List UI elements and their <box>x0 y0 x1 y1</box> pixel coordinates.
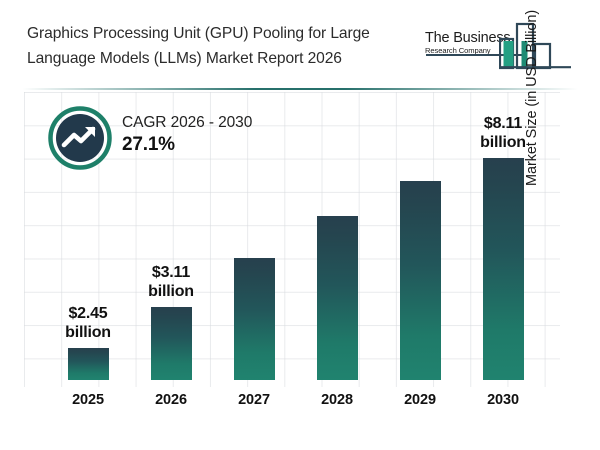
bar-label-amount: $2.45 <box>68 305 107 322</box>
bar-2026[interactable] <box>151 307 192 380</box>
bar-label-2026: $3.11 billion <box>132 263 210 301</box>
cagr-badge: CAGR 2026 - 2030 27.1% <box>48 106 278 174</box>
header-divider <box>22 88 578 90</box>
x-tick-2029: 2029 <box>381 392 459 408</box>
x-tick-2025: 2025 <box>49 392 127 408</box>
report-infographic: Graphics Processing Unit (GPU) Pooling f… <box>0 0 600 450</box>
cagr-period-label: CAGR 2026 - 2030 <box>122 112 252 133</box>
bar-2028[interactable] <box>317 216 358 380</box>
header: Graphics Processing Unit (GPU) Pooling f… <box>0 0 600 86</box>
page-title: Graphics Processing Unit (GPU) Pooling f… <box>27 21 417 71</box>
bar-label-2025: $2.45 billion <box>49 304 127 342</box>
bar-2027[interactable] <box>234 258 275 380</box>
cagr-text-group: CAGR 2026 - 2030 27.1% <box>122 112 252 157</box>
bar-label-unit: billion <box>49 323 127 342</box>
bar-2030[interactable] <box>483 158 524 380</box>
x-axis: 2025 2026 2027 2028 2029 2030 <box>24 392 560 416</box>
x-tick-2027: 2027 <box>215 392 293 408</box>
x-tick-2030: 2030 <box>464 392 542 408</box>
x-tick-2028: 2028 <box>298 392 376 408</box>
bar-label-amount: $3.11 <box>152 264 190 281</box>
trending-up-icon <box>48 106 112 170</box>
y-axis-label: Market Size (in USD Billion) <box>524 0 540 186</box>
bar-2025[interactable] <box>68 348 109 380</box>
bar-label-amount: $8.11 <box>484 115 522 132</box>
x-tick-2026: 2026 <box>132 392 210 408</box>
cagr-value-label: 27.1% <box>122 133 252 157</box>
bar-2029[interactable] <box>400 181 441 380</box>
company-logo: The Business Research Company <box>425 22 580 74</box>
bar-label-unit: billion <box>132 282 210 301</box>
